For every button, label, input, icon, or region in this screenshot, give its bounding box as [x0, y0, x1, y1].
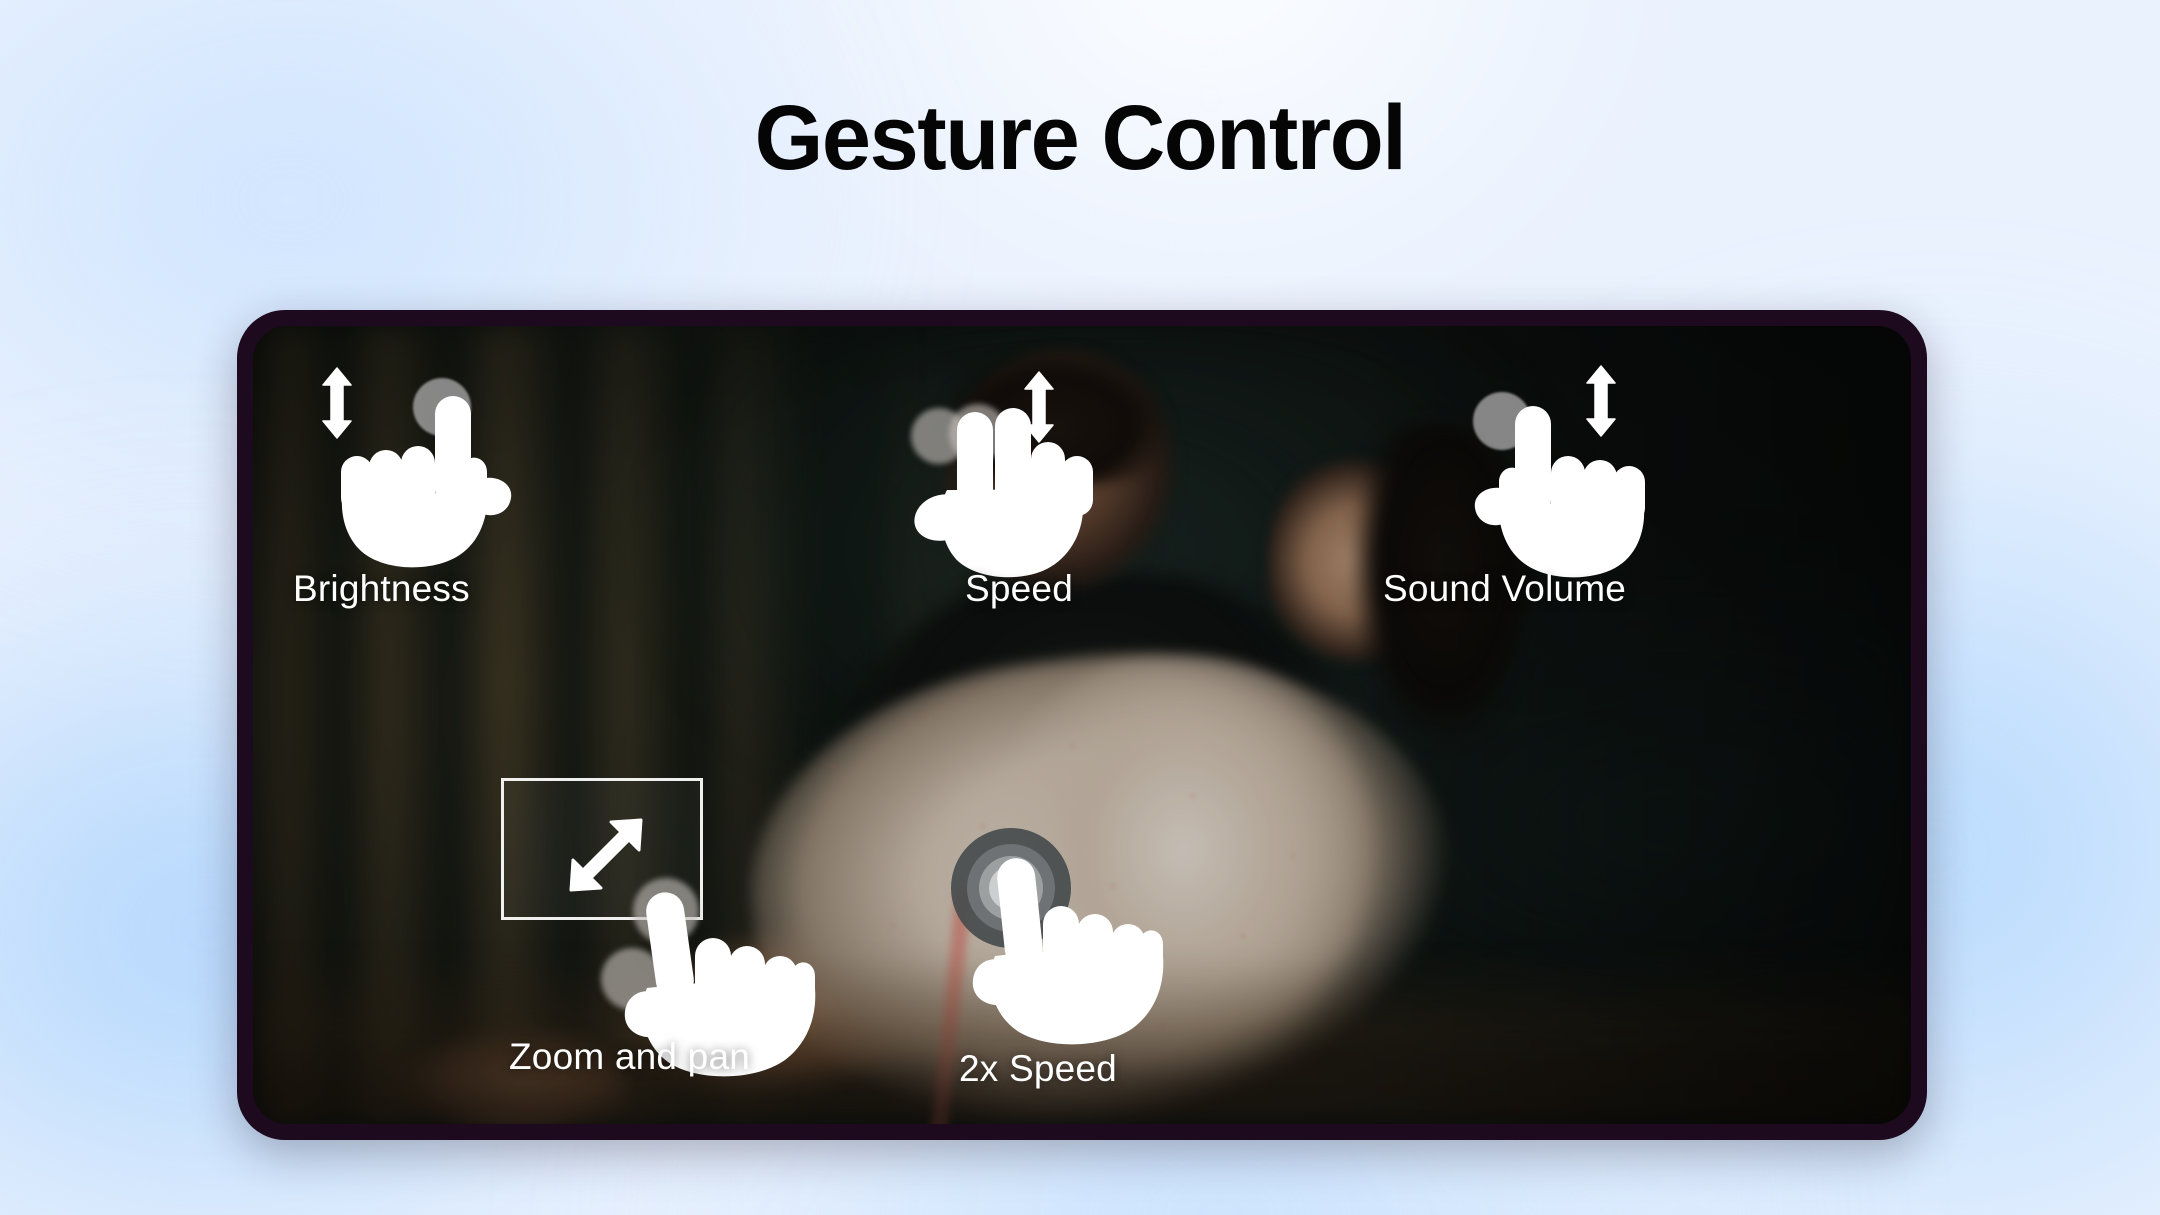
video-player-screen[interactable]: Brightness [253, 326, 1911, 1124]
gesture-label-brightness: Brightness [293, 568, 470, 610]
gesture-label-sound-volume: Sound Volume [1383, 568, 1626, 610]
gesture-label-2x-speed: 2x Speed [959, 1048, 1117, 1090]
page-title: Gesture Control [43, 92, 2117, 184]
phone-frame: Brightness [237, 310, 1927, 1140]
gesture-sound-volume[interactable]: Sound Volume [1383, 356, 1803, 656]
gesture-2x-speed[interactable]: 2x Speed [913, 816, 1353, 1124]
gesture-speed[interactable]: Speed [753, 356, 1153, 656]
gesture-overlay: Brightness [253, 326, 1911, 1124]
double-arrow-diagonal-icon [565, 814, 647, 896]
pointing-hand-left-icon [1461, 404, 1651, 584]
pointing-hand-left-icon [973, 858, 1173, 1048]
two-finger-hand-icon [903, 404, 1093, 584]
pointing-hand-right-icon [335, 394, 525, 574]
gesture-label-zoom-and-pan: Zoom and pan [509, 1036, 750, 1078]
gesture-brightness[interactable]: Brightness [293, 356, 713, 656]
gesture-label-speed: Speed [965, 568, 1073, 610]
